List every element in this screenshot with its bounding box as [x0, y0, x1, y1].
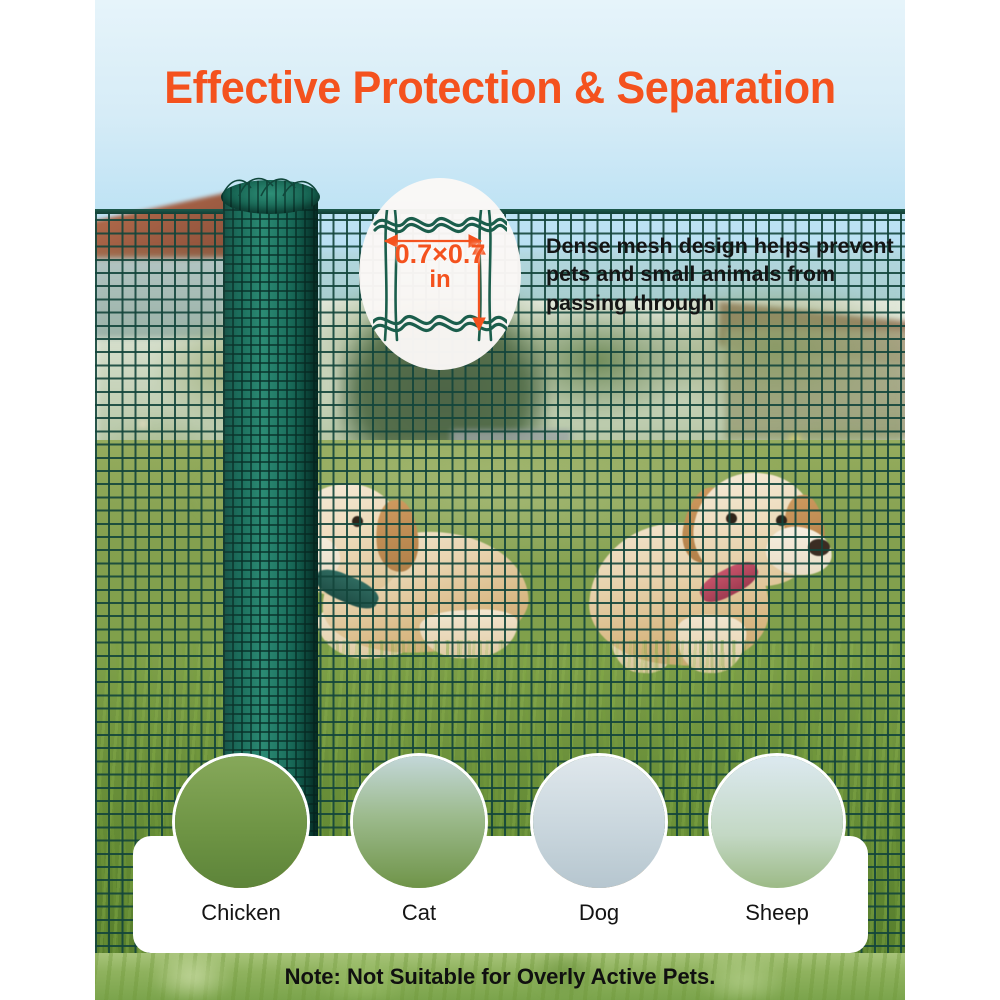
- dog-eye: [776, 515, 787, 526]
- feature-line-3: passing through: [546, 289, 906, 317]
- dog-eye: [726, 513, 737, 524]
- sheep-photo: [711, 756, 843, 888]
- animal-label-sheep: Sheep: [711, 900, 843, 926]
- page-title: Effective Protection & Separation: [20, 62, 980, 114]
- feature-line-2: pets and small animals from: [546, 260, 906, 288]
- animal-label-cat: Cat: [353, 900, 485, 926]
- dog-eye: [352, 516, 363, 527]
- animal-label-chicken: Chicken: [175, 900, 307, 926]
- feature-description: Dense mesh design helps prevent pets and…: [546, 232, 906, 317]
- dog-photo: [533, 756, 665, 888]
- mesh-dimension-value: 0.7×0.7: [395, 239, 486, 269]
- chicken-photo: [175, 756, 307, 888]
- dog-nose: [808, 539, 830, 556]
- roll-wire-svg: [217, 172, 325, 198]
- mesh-size-label: 0.7×0.7 in: [359, 240, 521, 293]
- note-strip: Note: Not Suitable for Overly Active Pet…: [95, 953, 905, 1000]
- mesh-dimension-unit: in: [359, 268, 521, 293]
- suitable-animals-card: Chicken Cat: [133, 836, 868, 953]
- animal-label-dog: Dog: [533, 900, 665, 926]
- note-text: Note: Not Suitable for Overly Active Pet…: [95, 953, 905, 1000]
- cat-photo: [353, 756, 485, 888]
- feature-line-1: Dense mesh design helps prevent: [546, 232, 906, 260]
- product-infographic: Effective Protection & Separation: [0, 0, 1000, 1000]
- mesh-size-callout: 0.7×0.7 in: [359, 178, 521, 370]
- roll-loose-wires: [217, 172, 325, 198]
